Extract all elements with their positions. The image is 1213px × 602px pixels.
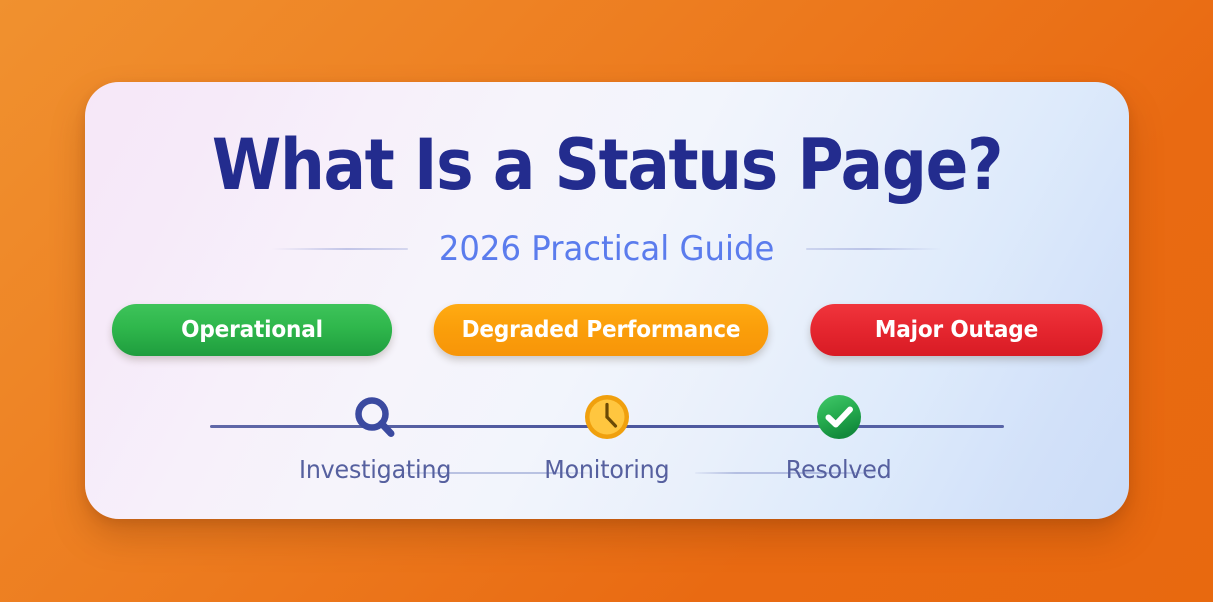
timeline-label-resolved: Resolved [786,455,892,484]
status-badge-major-outage[interactable]: Major Outage [810,304,1102,356]
status-badge-row: Operational Degraded Performance Major O… [85,304,1129,356]
timeline-step-investigating[interactable]: Investigating [265,392,485,484]
subtitle-rule-left [272,248,408,250]
timeline-label-investigating: Investigating [299,455,451,484]
hero-card: What Is a Status Page? 2026 Practical Gu… [85,82,1129,519]
check-circle-icon [813,392,865,444]
title-block: What Is a Status Page? [85,130,1129,201]
timeline-label-monitoring: Monitoring [544,455,669,484]
magnifier-icon [349,392,401,444]
subtitle-row: 2026 Practical Guide [85,229,1129,269]
subtitle-rule-right [806,248,942,250]
page-subtitle: 2026 Practical Guide [439,229,774,269]
timeline-steps: Investigating Monitoring [190,392,1024,484]
status-badge-operational[interactable]: Operational [111,304,391,356]
status-badge-degraded[interactable]: Degraded Performance [433,304,768,356]
page-title: What Is a Status Page? [137,130,1077,201]
timeline-step-monitoring[interactable]: Monitoring [497,392,717,484]
clock-icon [581,392,633,444]
timeline-step-resolved[interactable]: Resolved [729,392,949,484]
incident-timeline: Investigating Monitoring [190,392,1024,502]
